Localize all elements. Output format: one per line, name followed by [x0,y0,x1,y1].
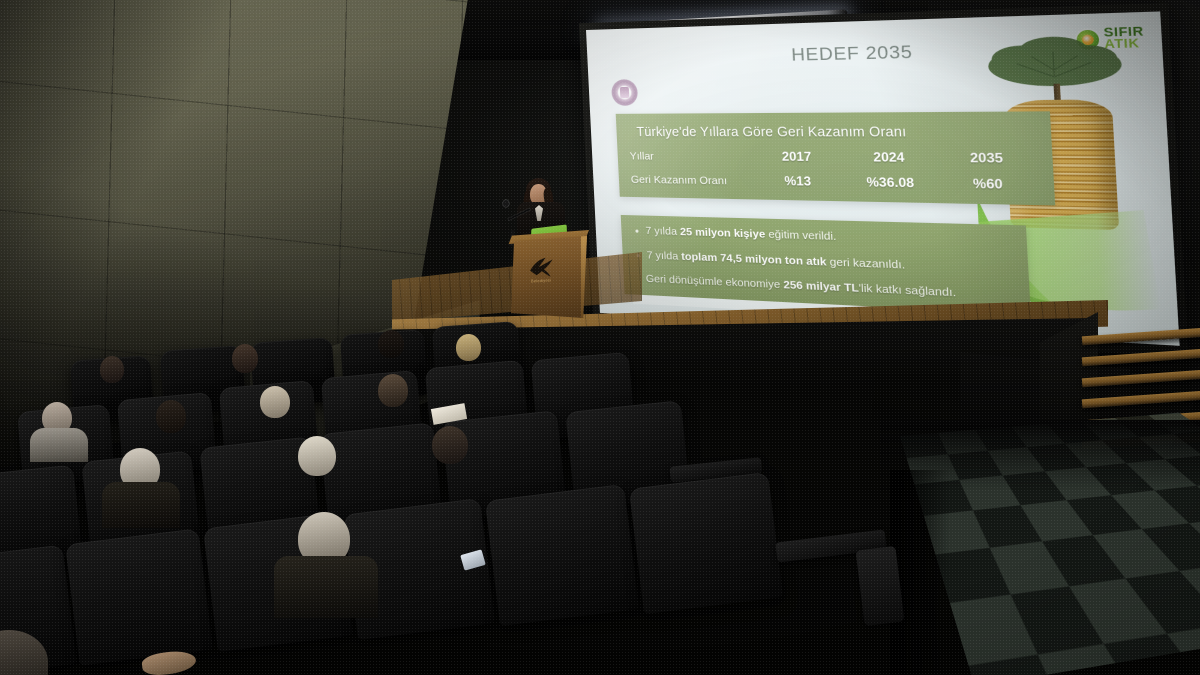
seat [65,528,213,665]
table-cell-rate-2024: %36.08 [843,174,939,191]
stair-step [1082,328,1200,346]
bullet-3-bold: 256 milyar TL [783,279,859,295]
recycling-rate-table: Türkiye'de Yıllara Göre Geri Kazanım Ora… [616,111,1056,205]
bullet-2-post: geri kazanıldı. [826,255,905,271]
attendee-head [378,330,404,358]
presentation-slide: HEDEF 2035 SIFIR ATIK [586,11,1180,345]
table-title: Türkiye'de Yıllara Göre Geri Kazanım Ora… [636,124,1036,140]
table-cell-year-2035: 2035 [937,150,1038,167]
table-rate-cells: %13 %36.08 %60 [753,173,1039,193]
bullet-2-bold: toplam 74,5 milyon ton atık [681,250,827,268]
podium-edge [581,236,588,318]
stair-step [1082,370,1200,388]
attendee-head [456,334,481,361]
seat-side-panel [856,546,905,626]
attendee-shoulders [274,556,378,618]
attendee-head [378,374,408,407]
slide-bullet-block: 7 yılda 25 milyon kişiye eğitim verildi.… [621,215,1031,315]
bullet-list: 7 yılda 25 milyon kişiye eğitim verildi.… [633,224,1015,303]
stair-step [1082,349,1200,367]
bullet-2-pre: 7 yılda [646,249,681,263]
podium-area: Belediyesi [497,178,607,318]
bullet-item-1: 7 yılda 25 milyon kişiye eğitim verildi. [633,224,1012,249]
attendee-shoulders [102,482,180,528]
attendee-shoulders [30,428,88,462]
bullet-3-pre: Geri dönüşümle ekonomiye [646,273,784,292]
table-row-years: Yıllar 2017 2024 2035 [629,148,1037,166]
auditorium-screenshot: HEDEF 2035 SIFIR ATIK [0,0,1200,675]
attendee-head [232,344,258,373]
bullet-1-bold: 25 milyon kişiye [680,226,766,241]
seat [485,484,639,626]
table-row-label-years: Yıllar [629,150,752,163]
stair-step [1082,391,1200,409]
table-cell-year-2017: 2017 [752,149,843,165]
attendee-head [100,356,124,383]
attendee-head [156,400,186,433]
audience-seating [0,330,960,675]
hand-icon [141,648,198,675]
bullet-1-pre: 7 yılda [645,225,680,238]
table-cell-year-2024: 2024 [842,149,938,165]
bullet-3-post: 'lik katkı sağlandı. [858,282,956,300]
microphone-icon [503,200,509,207]
table-row-label-rate: Geri Kazanım Oranı [631,174,754,188]
bullet-item-2: 7 yılda toplam 74,5 milyon ton atık geri… [634,248,1013,276]
ministry-seal-icon [611,79,638,106]
attendee-hand [142,652,196,674]
projection-screen: HEDEF 2035 SIFIR ATIK [586,11,1180,345]
table-year-cells: 2017 2024 2035 [752,149,1038,166]
screen-surface: HEDEF 2035 SIFIR ATIK [586,11,1180,345]
table-cell-rate-2035: %60 [938,175,1039,192]
swallow-bird-icon [526,255,557,279]
attendee-head [432,426,468,464]
table-row-rates: Geri Kazanım Oranı %13 %36.08 %60 [630,172,1039,193]
attendee-head [260,386,290,418]
attendee-head [298,436,336,476]
bullet-1-post: eğitim verildi. [765,228,837,243]
seat [629,472,783,614]
table-cell-rate-2017: %13 [753,173,844,189]
